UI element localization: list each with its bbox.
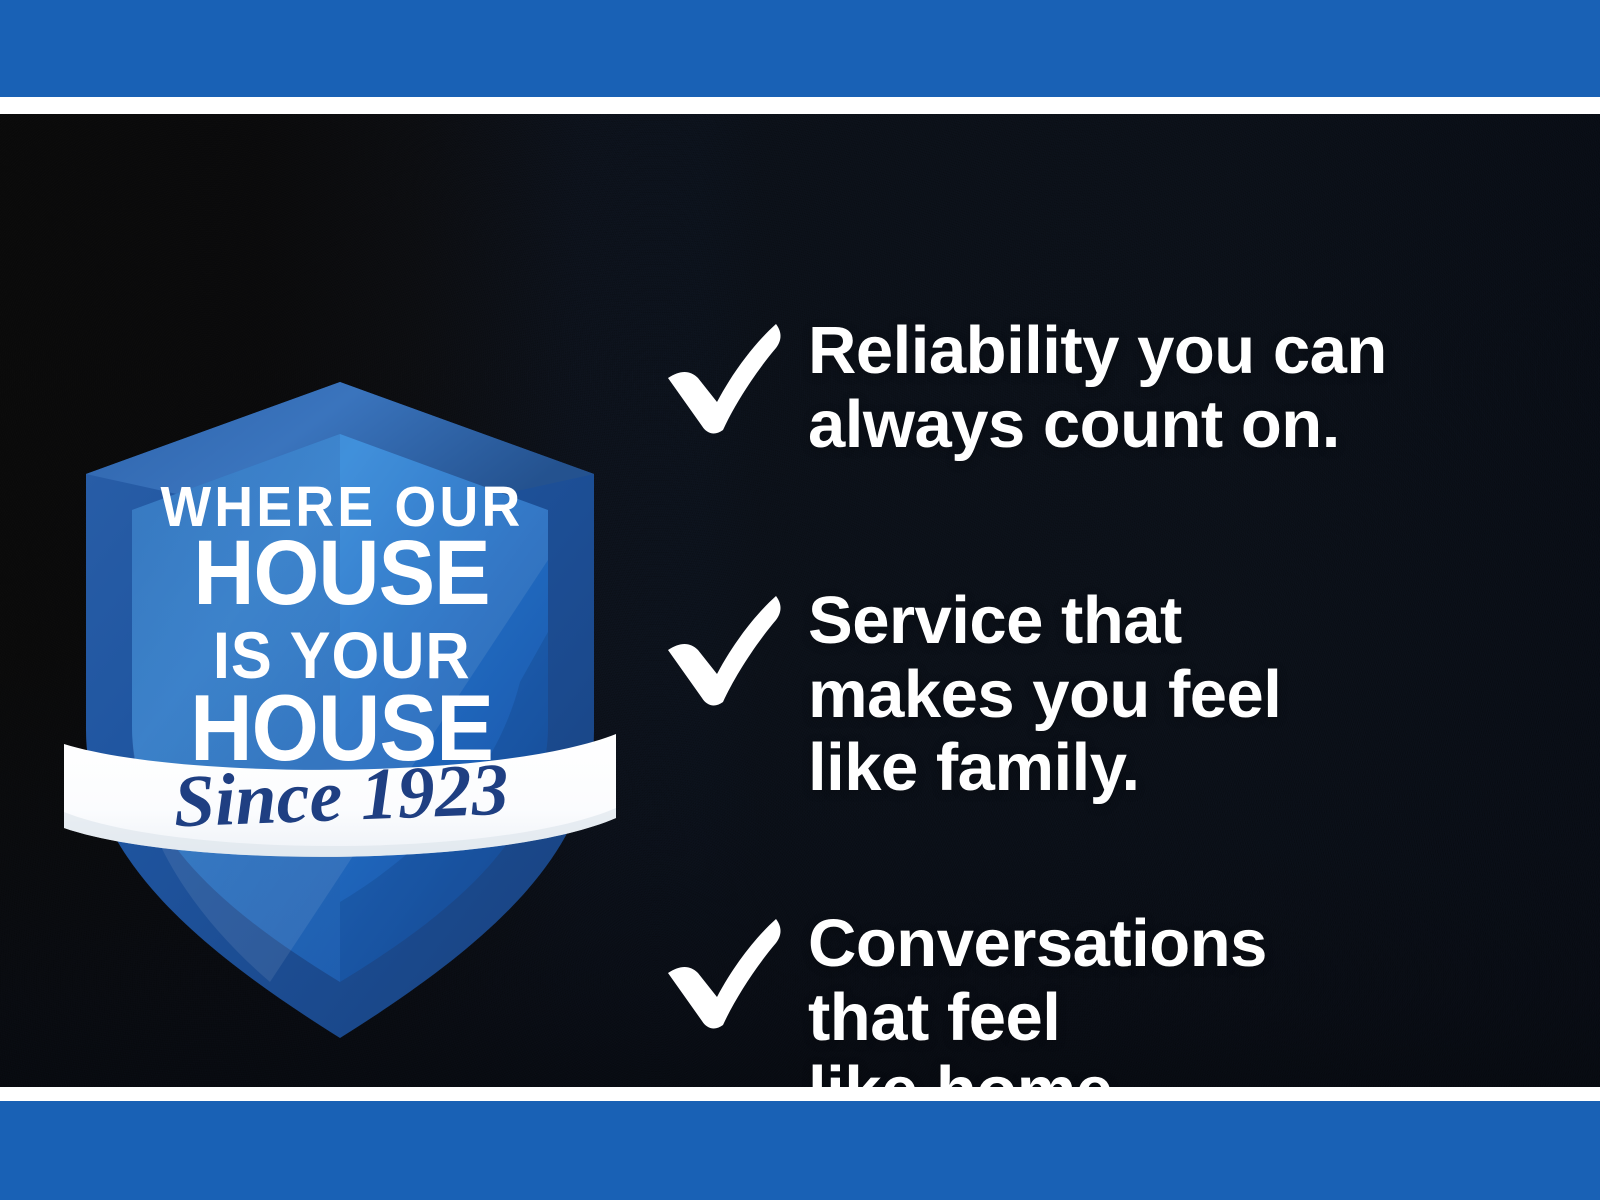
promo-graphic: WHERE OUR HOUSE IS YOUR HOUSE Since 1923	[0, 0, 1600, 1200]
benefit-item-2: Service that makes you feel like family.	[660, 582, 1281, 805]
check-icon	[660, 590, 786, 712]
benefit-text-1: Reliability you can always count on.	[808, 310, 1387, 461]
top-brand-bar	[0, 0, 1600, 97]
check-icon	[660, 913, 786, 1035]
benefit-item-1: Reliability you can always count on.	[660, 310, 1387, 461]
shield-line-2: HOUSE	[193, 521, 489, 624]
ribbon-script-text: Since 1923	[172, 749, 510, 844]
benefit-text-3: Conversations that feel like home.	[808, 905, 1267, 1087]
shield-badge: WHERE OUR HOUSE IS YOUR HOUSE Since 1923	[60, 382, 620, 1042]
main-panel: WHERE OUR HOUSE IS YOUR HOUSE Since 1923	[0, 114, 1600, 1087]
check-icon	[660, 318, 786, 440]
benefit-text-2: Service that makes you feel like family.	[808, 582, 1281, 805]
bottom-brand-bar	[0, 1101, 1600, 1200]
benefit-item-3: Conversations that feel like home.	[660, 905, 1267, 1087]
shield-text-block: WHERE OUR HOUSE IS YOUR HOUSE	[161, 474, 524, 780]
